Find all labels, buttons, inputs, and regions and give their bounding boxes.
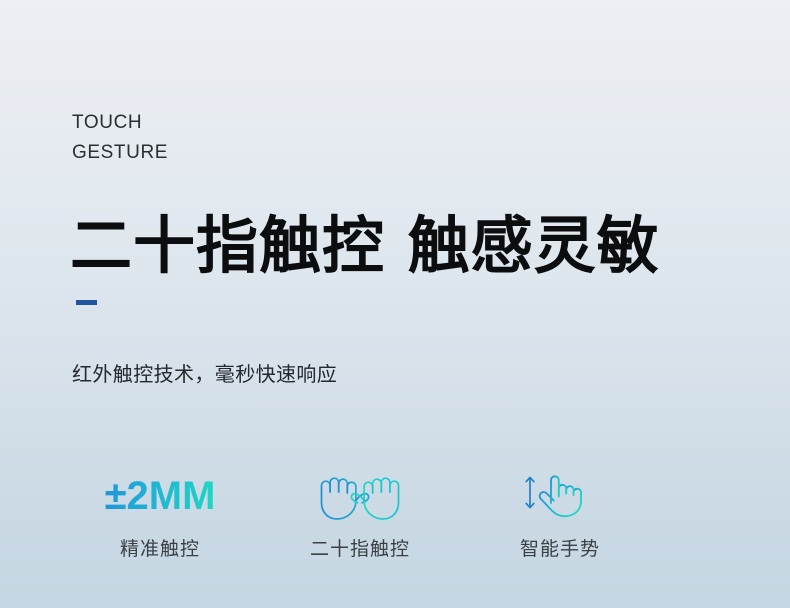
two-hands-icon	[308, 467, 412, 525]
feature-list: ±2MM 精准触控	[60, 466, 680, 562]
page-title: 二十指触控 触感灵敏	[70, 208, 660, 284]
feature-item-multitouch: 二十指触控	[260, 466, 460, 562]
two-hands-visual	[308, 466, 412, 526]
feature-label-gesture: 智能手势	[520, 538, 600, 562]
kicker-text: TOUCH GESTURE	[72, 108, 168, 168]
kicker-line-1: TOUCH	[72, 108, 168, 138]
up-down-arrow-icon	[526, 477, 534, 507]
feature-label-multitouch: 二十指触控	[310, 538, 410, 562]
promo-banner: TOUCH GESTURE 二十指触控 触感灵敏 红外触控技术，毫秒快速响应 ±…	[0, 0, 790, 608]
accent-underline	[76, 300, 97, 305]
precision-metric-visual: ±2MM	[105, 466, 216, 526]
page-subtitle: 红外触控技术，毫秒快速响应	[72, 360, 337, 390]
kicker-line-2: GESTURE	[72, 138, 168, 168]
precision-metric-value: ±2MM	[105, 472, 216, 520]
gesture-hand-icon	[517, 467, 603, 525]
gesture-visual	[517, 466, 603, 526]
feature-item-gesture: 智能手势	[460, 466, 660, 562]
feature-item-precision: ±2MM 精准触控	[60, 466, 260, 562]
feature-label-precision: 精准触控	[120, 538, 200, 562]
